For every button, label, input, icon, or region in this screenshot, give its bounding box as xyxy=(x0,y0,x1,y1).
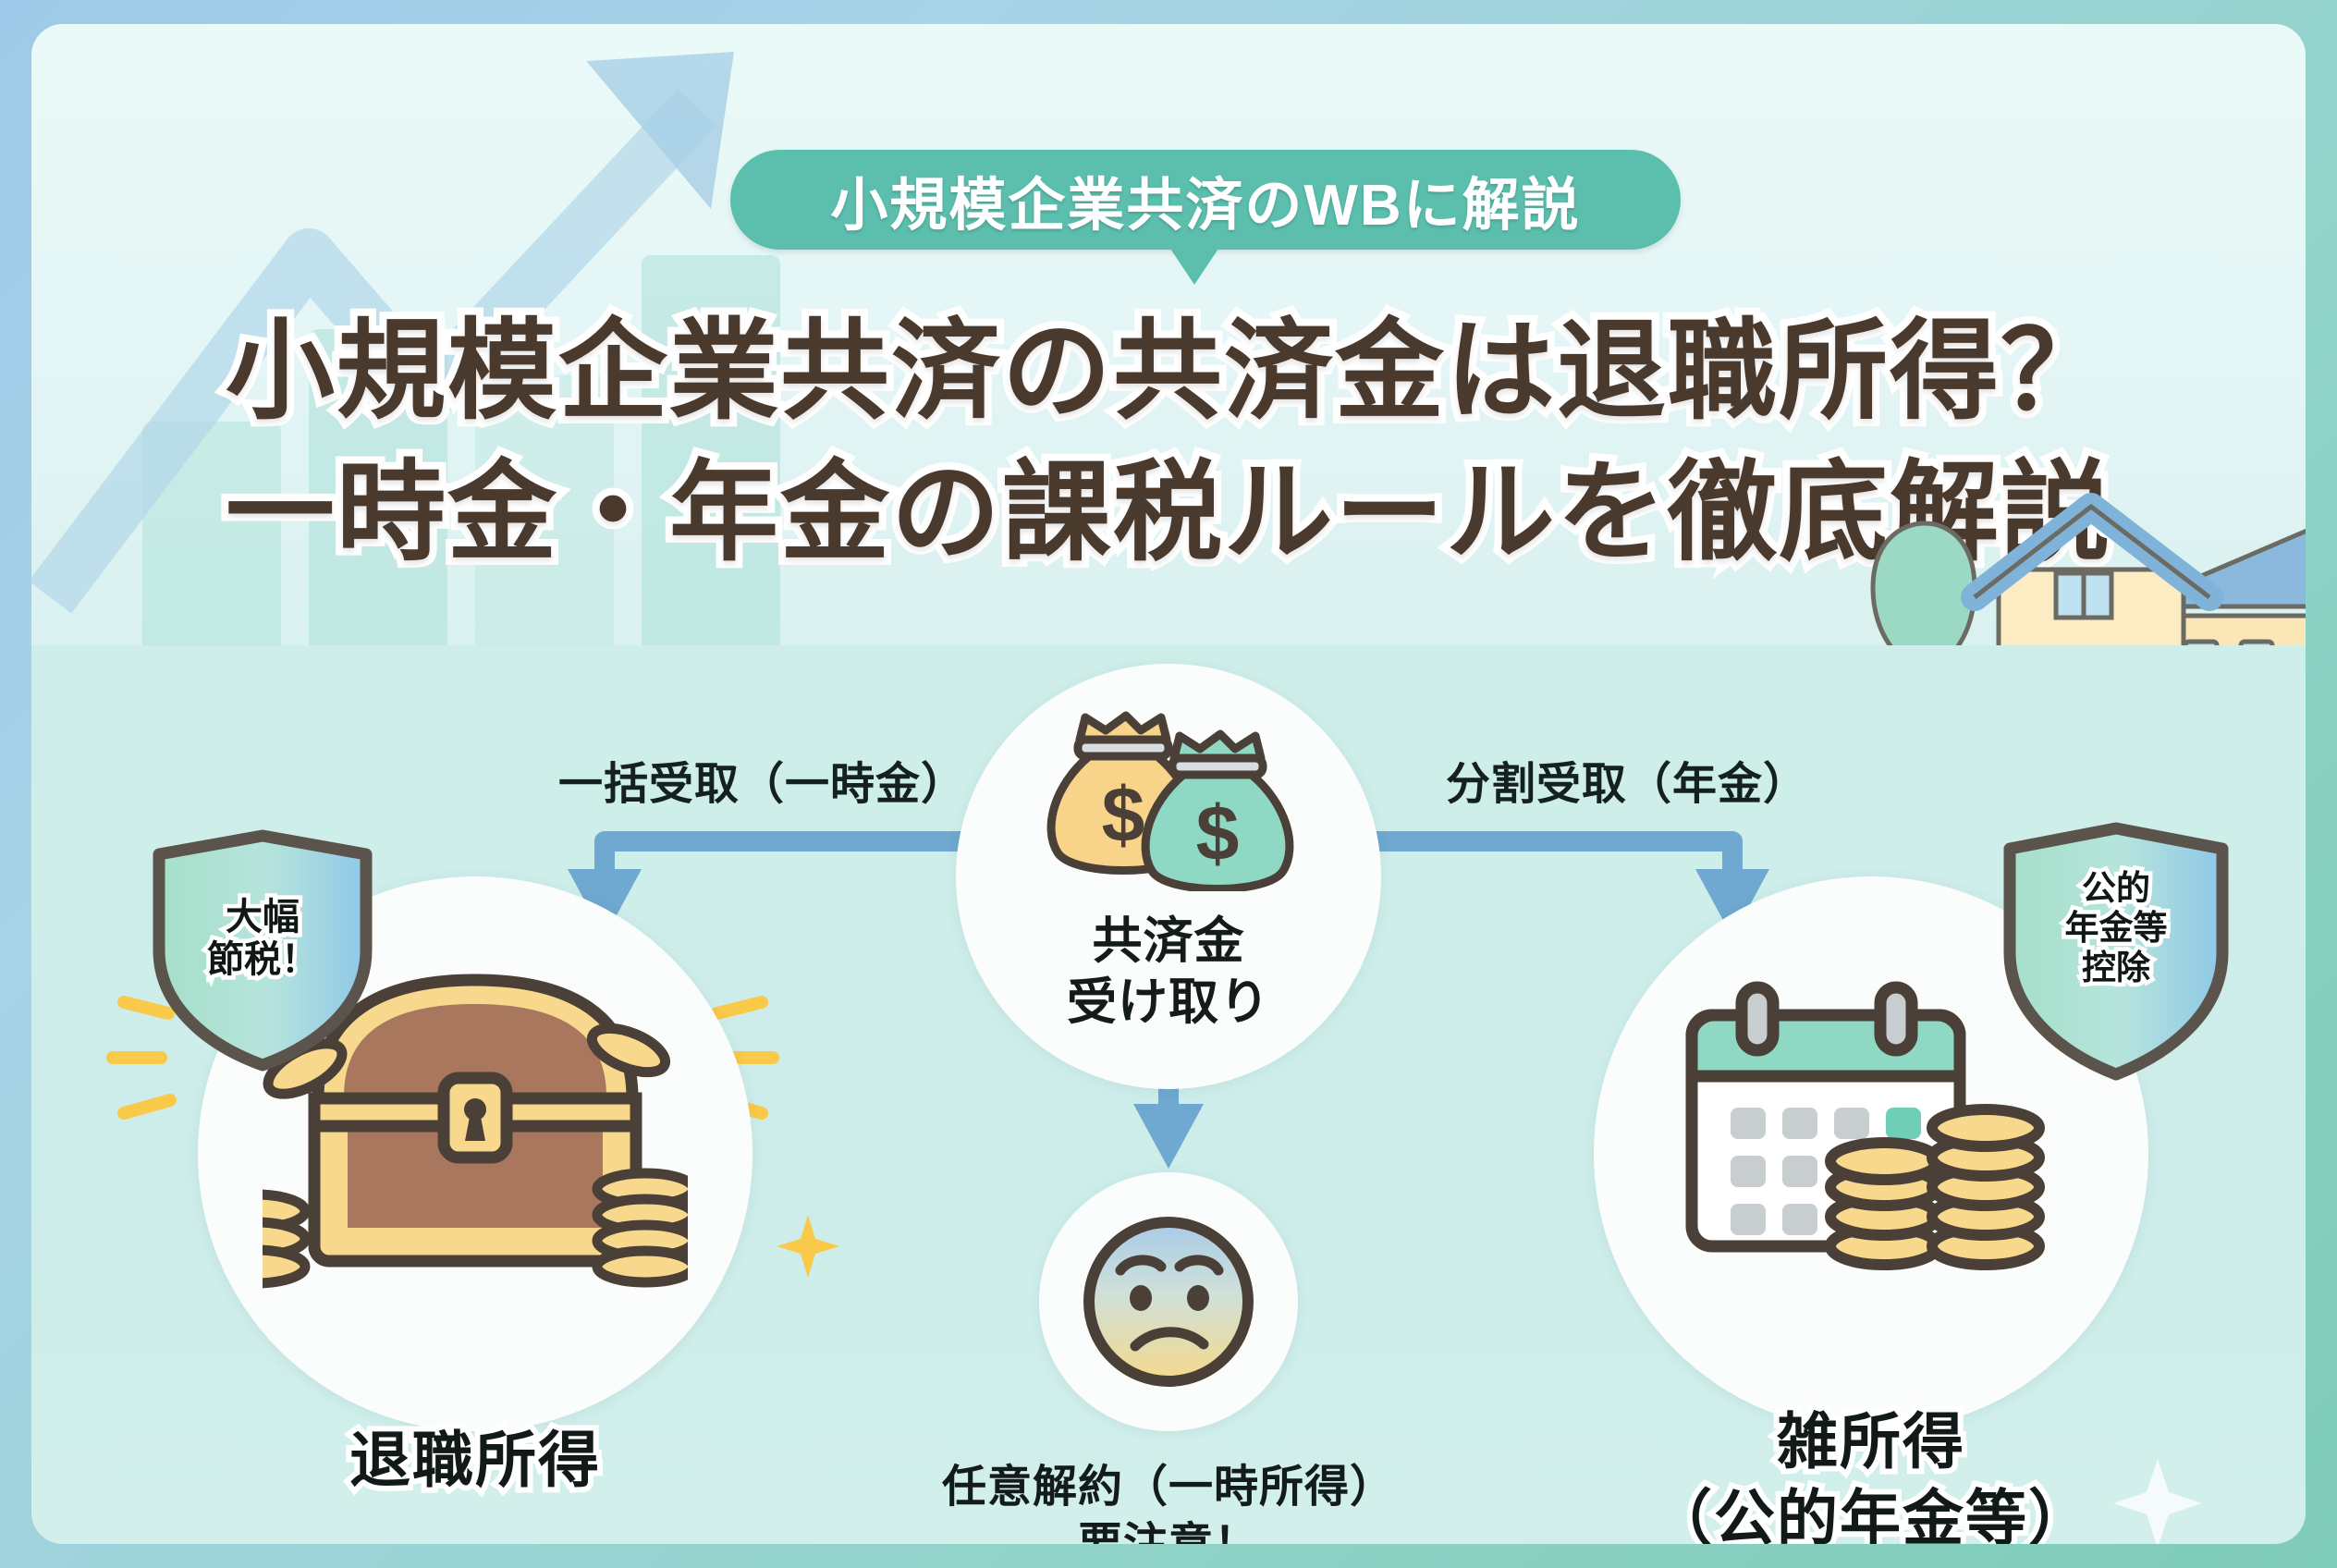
svg-text:$: $ xyxy=(1196,790,1240,876)
center-node-label: 共済金 受け取り xyxy=(956,912,1381,1034)
worried-face-icon xyxy=(1076,1209,1261,1394)
right-node-label-line-1: 雑所得 xyxy=(1594,1403,2148,1480)
coin-stack-icon xyxy=(263,1194,305,1283)
branch-label-annuity: 分割受取（年金） xyxy=(1446,747,1808,812)
left-node-label: 退職所得 xyxy=(198,1422,752,1499)
right-badge-line-2: 年金等 xyxy=(1982,909,2250,949)
branch-label-lump-sum: 一括受取（一時金） xyxy=(558,747,966,812)
house-icon xyxy=(1853,486,2306,645)
bottom-node xyxy=(1039,1172,1298,1431)
tree-icon xyxy=(1873,523,1975,645)
house-illustration xyxy=(1853,486,2306,645)
subtitle-badge: 小規模企業共済のWBに解説 xyxy=(730,150,1681,250)
header-section: 小規模企業共済のWBに解説 小規模企業共済の共済金は退職所得？ 一時金・年金の課… xyxy=(31,24,2306,645)
right-node-badge: 公的 年金等 控除 xyxy=(1982,817,2250,1085)
bottom-node-label-line-2: 要注意！ xyxy=(845,1516,1492,1544)
infographic-canvas: 小規模企業共済のWBに解説 小規模企業共済の共済金は退職所得？ 一時金・年金の課… xyxy=(0,0,2337,1568)
center-node-label-line-1: 共済金 xyxy=(956,912,1381,973)
center-node: $ $ 共済金 受け取り xyxy=(956,664,1381,1089)
left-node-badge: 大幅 節税！ xyxy=(133,827,392,1076)
right-badge-line-3: 控除 xyxy=(1982,949,2250,988)
svg-text:$: $ xyxy=(1102,771,1145,858)
left-badge-line-1: 大幅 xyxy=(133,897,392,939)
right-node-label: 雑所得 （公的年金等） xyxy=(1594,1403,2148,1544)
money-bags-icon: $ $ xyxy=(1037,706,1305,891)
left-node-badge-text: 大幅 節税！ xyxy=(133,897,392,981)
bottom-node-label-line-1: 任意解約（一時所得） xyxy=(845,1459,1492,1516)
right-node-badge-text: 公的 年金等 控除 xyxy=(1982,869,2250,988)
diagram-section: $ $ 共済金 受け取り 一括受取（一時金） 分割受取（年金） xyxy=(31,645,2306,1544)
center-node-label-line-2: 受け取り xyxy=(956,973,1381,1034)
left-badge-line-2: 節税！ xyxy=(133,939,392,982)
badge-pointer-icon xyxy=(1168,246,1220,285)
right-node-label-line-2: （公的年金等） xyxy=(1594,1480,2148,1545)
right-badge-line-1: 公的 xyxy=(1982,869,2250,909)
title-line-1: 小規模企業共済の共済金は退職所得？ xyxy=(31,301,2306,443)
subtitle-badge-label: 小規模企業共済のWBに解説 xyxy=(830,158,1580,241)
bottom-node-label: 任意解約（一時所得） 要注意！ xyxy=(845,1459,1492,1544)
infographic-panel: 小規模企業共済のWBに解説 小規模企業共済の共済金は退職所得？ 一時金・年金の課… xyxy=(31,24,2306,1544)
